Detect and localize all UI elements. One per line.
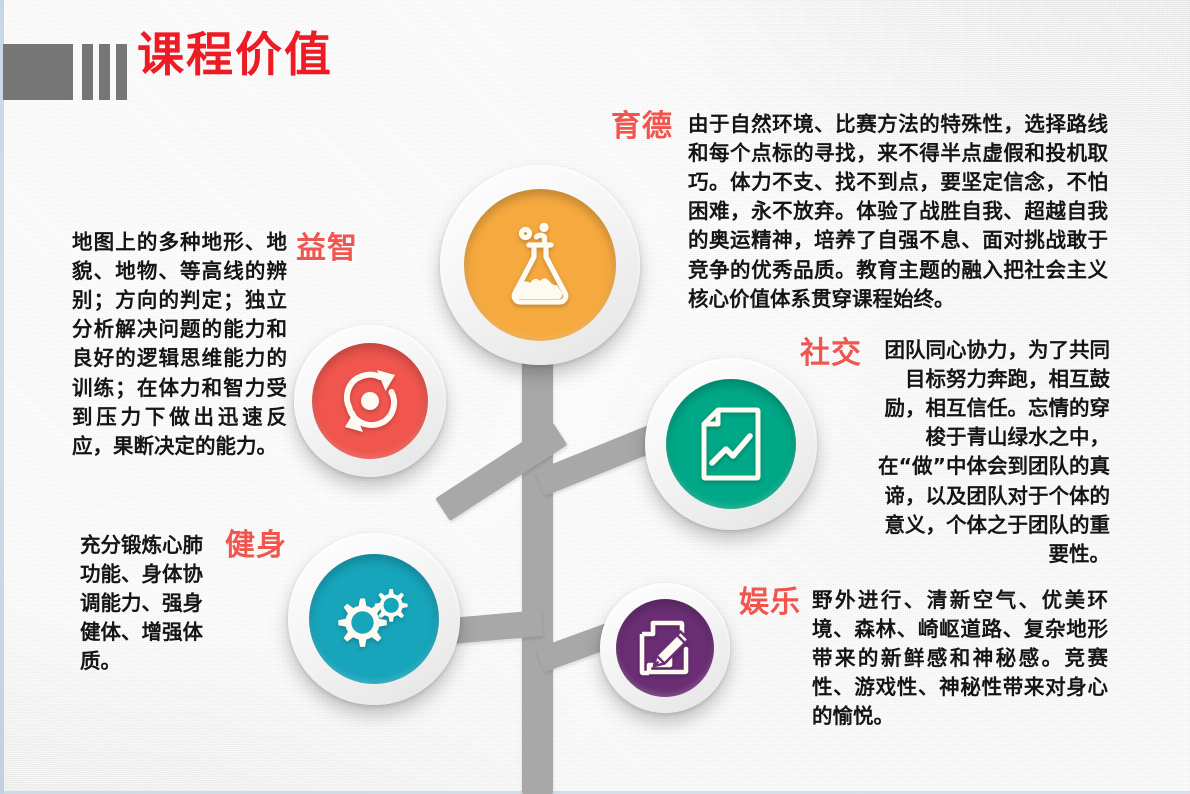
paragraph-shejiao: 团队同心协力，为了共同目标努力奔跑，相互鼓励，相互信任。忘情的穿梭于青山绿水之中… [872, 336, 1110, 569]
tag-yizhi: 益智 [296, 232, 358, 265]
paragraph-jianshen: 充分锻炼心肺功能、身体协调能力、强身健体、增强体质。 [80, 531, 220, 677]
tag-jianshen: 健身 [225, 529, 287, 562]
gears-icon [334, 583, 414, 655]
tree-trunk [522, 340, 553, 794]
tag-yule: 娱乐 [739, 586, 801, 619]
tag-shejiao: 社交 [800, 337, 862, 370]
node-yule[interactable] [600, 583, 730, 713]
paragraph-yude: 由于自然环境、比赛方法的特殊性，选择路线和每个点标的寻找，来不得半点虚假和投机取… [688, 110, 1108, 314]
node-shejiao[interactable] [645, 358, 817, 530]
node-yude[interactable] [440, 165, 640, 365]
node-yizhi[interactable] [294, 325, 446, 477]
yizhi-disc [312, 343, 428, 459]
jianshen-disc [309, 554, 439, 684]
paragraph-yule: 野外进行、清新空气、优美环境、森林、崎岖道路、复杂地形带来的新鲜感和神秘感。竞赛… [812, 586, 1108, 732]
shejiao-disc [666, 379, 796, 509]
edit-document-icon [636, 619, 694, 677]
chart-document-icon [700, 407, 762, 481]
slide-canvas: 课程价值 [0, 0, 1190, 794]
node-jianshen[interactable] [288, 533, 460, 705]
yule-disc [616, 599, 714, 697]
refresh-cycle-icon [333, 364, 407, 438]
yude-disc [464, 189, 616, 341]
tag-yude: 育德 [611, 110, 673, 143]
paragraph-yizhi: 地图上的多种地形、地貌、地物、等高线的辨别；方向的判定；独立分析解决问题的能力和… [72, 228, 287, 461]
flask-icon [503, 223, 577, 307]
